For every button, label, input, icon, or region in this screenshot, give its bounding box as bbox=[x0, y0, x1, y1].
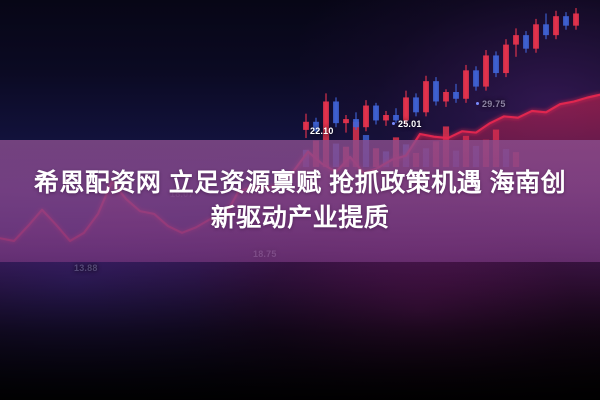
price-label-text: 29.75 bbox=[482, 99, 506, 109]
headline-text-block: 希恩配资网 立足资源禀赋 抢抓政策机遇 海南创 新驱动产业提质 bbox=[0, 140, 600, 262]
headline-line-2: 新驱动产业提质 bbox=[211, 204, 390, 234]
headline-line-1: 希恩配资网 立足资源禀赋 抢抓政策机遇 海南创 bbox=[34, 169, 566, 199]
price-label-text: 13.88 bbox=[74, 263, 98, 273]
label-22-10: 22.10 bbox=[310, 126, 334, 136]
chart-banner-image: 13.8818.0718.7522.1025.0129.75 希恩配资网 立足资… bbox=[0, 0, 600, 400]
marker-dot-icon bbox=[476, 102, 479, 105]
label-25-01: 25.01 bbox=[392, 119, 422, 129]
marker-dot-icon bbox=[392, 122, 395, 125]
label-29-75: 29.75 bbox=[476, 99, 506, 109]
price-label-text: 22.10 bbox=[310, 126, 334, 136]
price-label-text: 25.01 bbox=[398, 119, 422, 129]
label-13-88: 13.88 bbox=[74, 263, 98, 273]
